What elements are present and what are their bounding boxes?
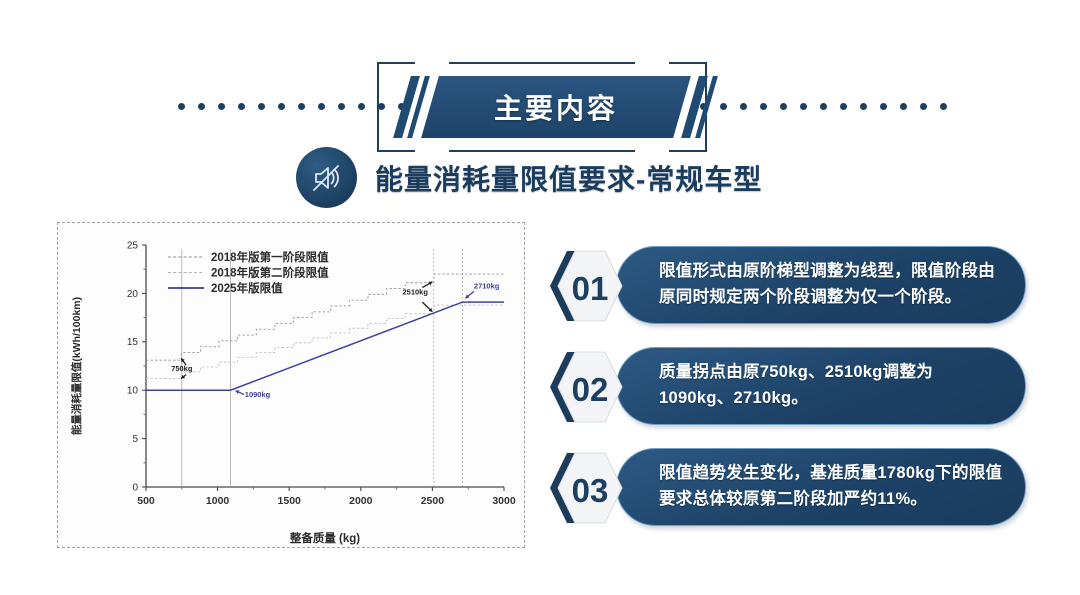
- legend-label-2: 2018年版第二阶段限值: [211, 266, 329, 280]
- banner-dot: [298, 103, 305, 110]
- series-2: [146, 305, 504, 379]
- list-item: 01 限值形式由原阶梯型调整为线型，限值阶段由原同时规定两个阶段调整为仅一个阶段…: [548, 246, 1026, 324]
- banner-dot: [198, 103, 205, 110]
- point-pill: 限值形式由原阶梯型调整为线型，限值阶段由原同时规定两个阶段调整为仅一个阶段。: [616, 246, 1026, 324]
- banner-dot: [840, 103, 847, 110]
- y-tick-label: 5: [132, 434, 138, 445]
- hexagon-badge-03: 03: [548, 450, 630, 526]
- page-banner: 主要内容: [0, 28, 1080, 128]
- x-axis-label: 整备质量 (kg): [289, 531, 360, 545]
- section-heading: 能量消耗量限值要求-常规车型: [296, 147, 762, 208]
- banner-plate: 主要内容: [398, 76, 688, 138]
- hexagon-number: 02: [572, 371, 609, 408]
- point-text: 质量拐点由原750kg、2510kg调整为1090kg、2710kg。: [659, 360, 1005, 411]
- banner-dot: [760, 103, 767, 110]
- annotation-750kg: 750kg: [171, 364, 193, 373]
- banner-dot: [318, 103, 325, 110]
- hexagon-number: 03: [572, 472, 609, 509]
- annotation-2710kg: 2710kg: [474, 282, 500, 291]
- banner-dot: [238, 103, 245, 110]
- banner-dot: [218, 103, 225, 110]
- hexagon-badge-02: 02: [548, 349, 630, 425]
- hexagon-number: 01: [572, 270, 609, 307]
- banner-dot: [900, 103, 907, 110]
- banner-dot: [940, 103, 947, 110]
- y-tick-label: 15: [127, 337, 139, 348]
- banner-dot: [278, 103, 285, 110]
- x-tick-label: 2000: [349, 495, 373, 507]
- x-tick-label: 500: [137, 495, 155, 507]
- section-title: 能量消耗量限值要求-常规车型: [375, 158, 762, 198]
- x-tick-label: 1000: [206, 495, 230, 507]
- point-pill: 限值趋势发生变化，基准质量1780kg下的限值要求总体较原第二阶段加严约11%。: [616, 448, 1026, 526]
- list-item: 03 限值趋势发生变化，基准质量1780kg下的限值要求总体较原第二阶段加严约1…: [548, 448, 1026, 526]
- legend-label-1: 2018年版第一阶段限值: [211, 250, 329, 264]
- banner-dot: [740, 103, 747, 110]
- point-text: 限值趋势发生变化，基准质量1780kg下的限值要求总体较原第二阶段加严约11%。: [659, 461, 1005, 512]
- y-tick-label: 25: [127, 240, 139, 251]
- speaker-icon: [296, 147, 357, 208]
- annotation-1090kg: 1090kg: [245, 390, 271, 399]
- list-item: 02 质量拐点由原750kg、2510kg调整为1090kg、2710kg。: [548, 347, 1026, 425]
- key-points-list: 01 限值形式由原阶梯型调整为线型，限值阶段由原同时规定两个阶段调整为仅一个阶段…: [548, 246, 1026, 549]
- y-tick-label: 0: [132, 482, 138, 493]
- y-axis-label: 能量消耗量限值(kWh/100km): [70, 297, 83, 435]
- banner-dots-right: [700, 103, 947, 110]
- y-tick-label: 10: [127, 386, 139, 397]
- banner-dot: [258, 103, 265, 110]
- x-tick-label: 2500: [421, 495, 445, 507]
- point-pill: 质量拐点由原750kg、2510kg调整为1090kg、2710kg。: [616, 347, 1026, 425]
- x-tick-label: 3000: [492, 495, 516, 507]
- banner-dot: [720, 103, 727, 110]
- banner-dot: [920, 103, 927, 110]
- point-text: 限值形式由原阶梯型调整为线型，限值阶段由原同时规定两个阶段调整为仅一个阶段。: [659, 259, 1005, 310]
- banner-title: 主要内容: [430, 76, 682, 138]
- chart-panel: 051015202550010001500200025003000整备质量 (k…: [57, 222, 525, 548]
- banner-dot: [860, 103, 867, 110]
- banner-dot: [880, 103, 887, 110]
- banner-dot: [820, 103, 827, 110]
- legend-label-3: 2025年版限值: [211, 281, 283, 295]
- y-tick-label: 20: [127, 289, 139, 300]
- annotation-2510kg: 2510kg: [402, 287, 428, 296]
- banner-dot: [800, 103, 807, 110]
- energy-limit-chart: 051015202550010001500200025003000整备质量 (k…: [58, 223, 524, 547]
- banner-dot: [780, 103, 787, 110]
- x-tick-label: 1500: [278, 495, 302, 507]
- series-3: [146, 302, 504, 390]
- banner-dot: [178, 103, 185, 110]
- hexagon-badge-01: 01: [548, 248, 630, 324]
- banner-dot: [358, 103, 365, 110]
- series-1: [146, 274, 504, 360]
- banner-dot: [338, 103, 345, 110]
